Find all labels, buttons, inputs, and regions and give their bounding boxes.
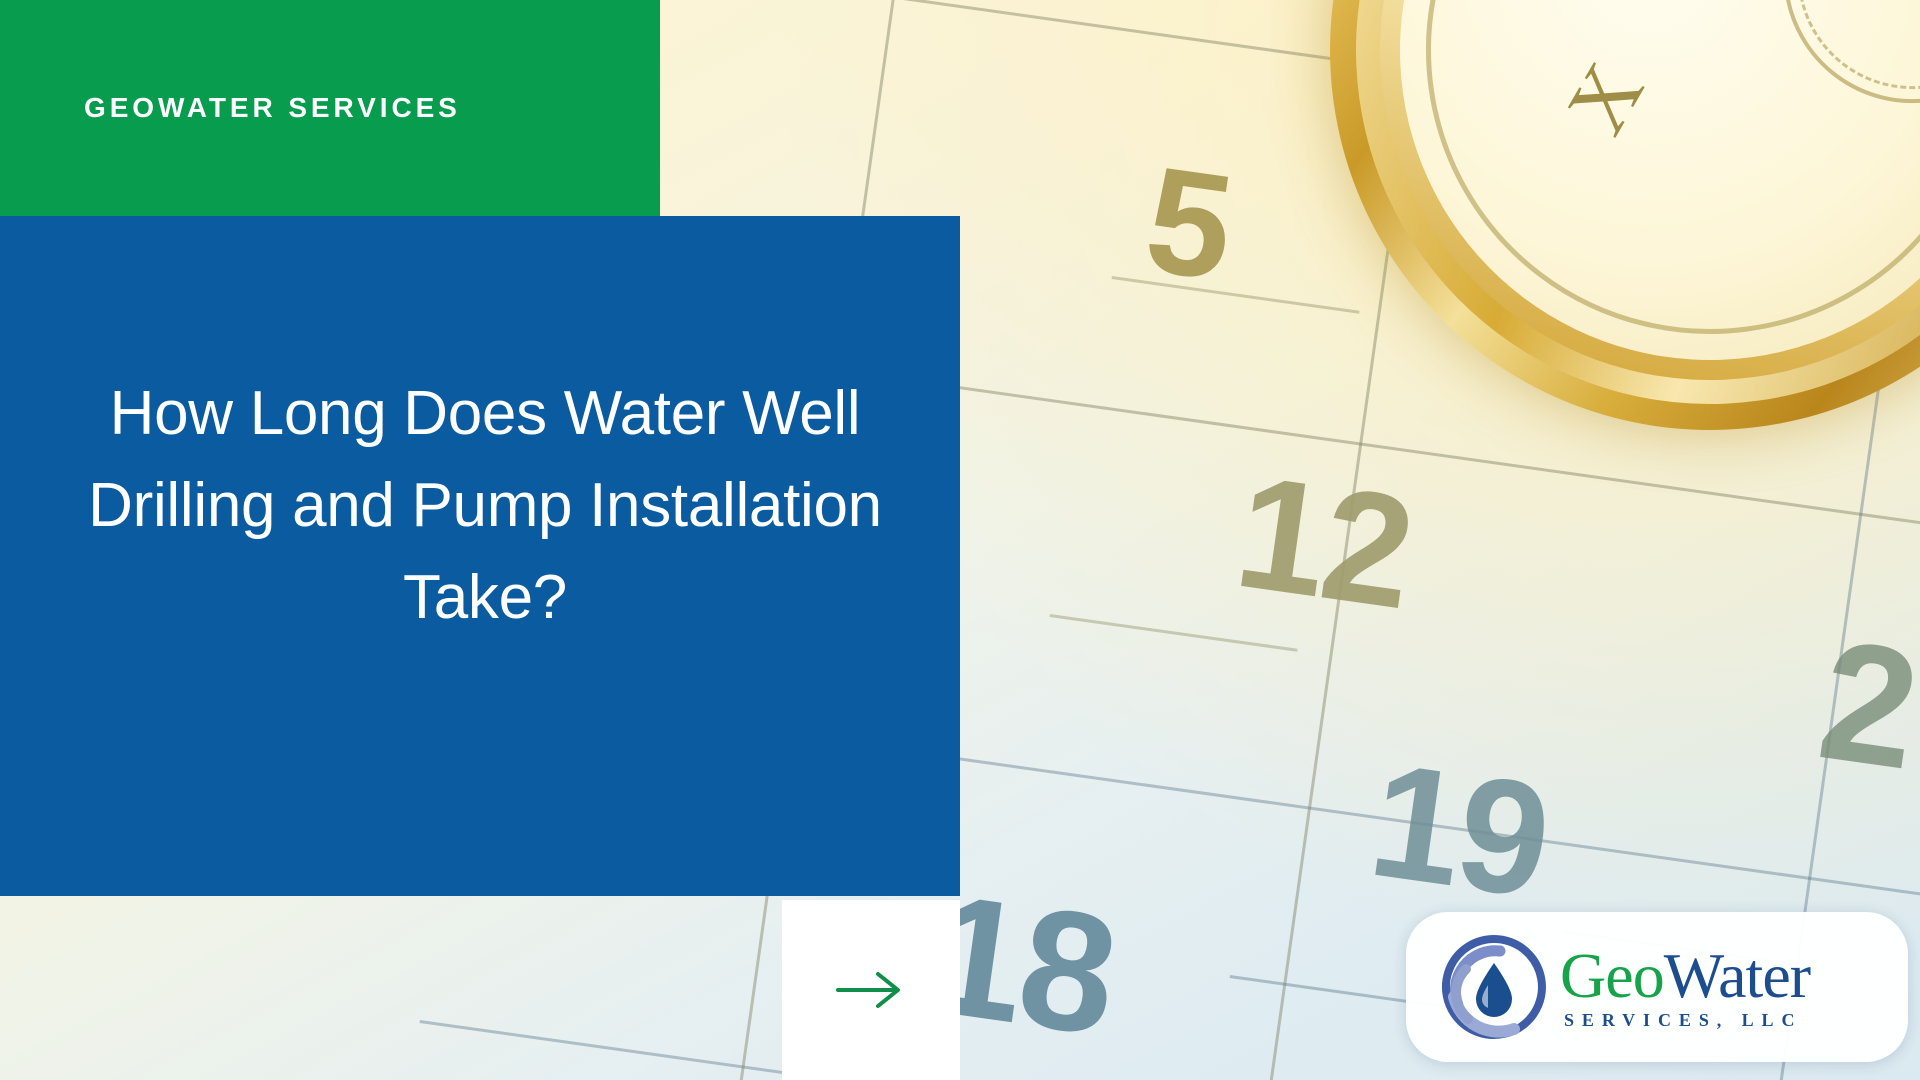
water-droplet-swirl-icon bbox=[1440, 933, 1548, 1041]
social-share-card: 5 12 19 18 2 X bbox=[0, 0, 1920, 1080]
logo-title: GeoWater bbox=[1560, 943, 1810, 1008]
company-logo[interactable]: GeoWater SERVICES, LLC bbox=[1406, 912, 1908, 1062]
page-title: How Long Does Water Well Drilling and Pu… bbox=[60, 368, 910, 643]
calendar-day-5: 5 bbox=[1138, 143, 1239, 303]
brand-eyebrow-label: GEOWATER SERVICES bbox=[84, 92, 461, 124]
logo-wordmark: GeoWater SERVICES, LLC bbox=[1560, 943, 1810, 1031]
calendar-day-2: 2 bbox=[1811, 614, 1920, 795]
pocket-watch: X XI 50 40 bbox=[1281, 0, 1920, 479]
logo-tagline: SERVICES, LLC bbox=[1564, 1010, 1810, 1031]
logo-word-geo: Geo bbox=[1560, 940, 1664, 1011]
calendar-day-12: 12 bbox=[1228, 451, 1420, 633]
headline-panel: How Long Does Water Well Drilling and Pu… bbox=[0, 216, 960, 896]
arrow-right-icon bbox=[834, 970, 908, 1010]
brand-eyebrow-bar: GEOWATER SERVICES bbox=[0, 0, 660, 216]
logo-word-water: Water bbox=[1664, 940, 1810, 1011]
calendar-day-19: 19 bbox=[1362, 739, 1557, 924]
read-more-button[interactable] bbox=[782, 900, 960, 1080]
